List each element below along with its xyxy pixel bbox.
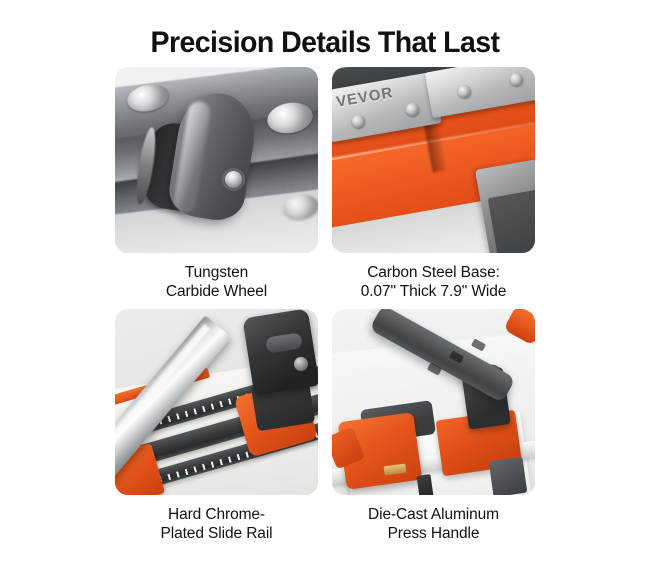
right-grey-bracket [489, 457, 528, 495]
feature-caption-die-cast-aluminum-press-handle: Die-Cast Aluminum Press Handle [332, 506, 535, 543]
caption-line-2: Plated Slide Rail [115, 525, 318, 544]
feature-grid: Tungsten Carbide Wheel VEVOR [115, 67, 535, 543]
feature-caption-hard-chrome-plated-slide-rail: Hard Chrome- Plated Slide Rail [115, 506, 318, 543]
feature-caption-carbon-steel-base: Carbon Steel Base: 0.07" Thick 7.9" Wide [332, 264, 535, 301]
feature-card-tungsten-carbide-wheel[interactable]: Tungsten Carbide Wheel [115, 67, 318, 301]
caption-line-1: Tungsten [185, 264, 248, 281]
feature-image-die-cast-aluminum-press-handle[interactable] [332, 309, 535, 495]
feature-card-hard-chrome-plated-slide-rail[interactable]: Hard Chrome- Plated Slide Rail [115, 309, 318, 543]
feature-image-tungsten-carbide-wheel[interactable] [115, 67, 318, 253]
cutting-tip [417, 474, 434, 495]
caption-line-1: Die-Cast Aluminum [368, 506, 499, 523]
rail-carriage-head [242, 309, 318, 396]
feature-image-carbon-steel-base[interactable]: VEVOR [332, 67, 535, 253]
caption-line-1: Carbon Steel Base: [367, 264, 500, 281]
feature-card-die-cast-aluminum-press-handle[interactable]: Die-Cast Aluminum Press Handle [332, 309, 535, 543]
feature-caption-tungsten-carbide-wheel: Tungsten Carbide Wheel [115, 264, 318, 301]
right-metal-block-shadow [488, 189, 535, 253]
carriage-knob-icon [294, 357, 308, 371]
feature-card-carbon-steel-base[interactable]: VEVOR Carbon Steel Base: 0.07" Thick 7.9… [332, 67, 535, 301]
caption-line-2: Carbide Wheel [115, 283, 318, 302]
feature-image-hard-chrome-plated-slide-rail[interactable] [115, 309, 318, 495]
caption-line-2: Press Handle [332, 525, 535, 544]
infographic-page: Precision Details That Last Tungsten Car [0, 0, 650, 581]
caption-line-2: 0.07" Thick 7.9" Wide [332, 283, 535, 302]
caption-line-1: Hard Chrome- [168, 506, 265, 523]
page-title: Precision Details That Last [16, 26, 634, 60]
